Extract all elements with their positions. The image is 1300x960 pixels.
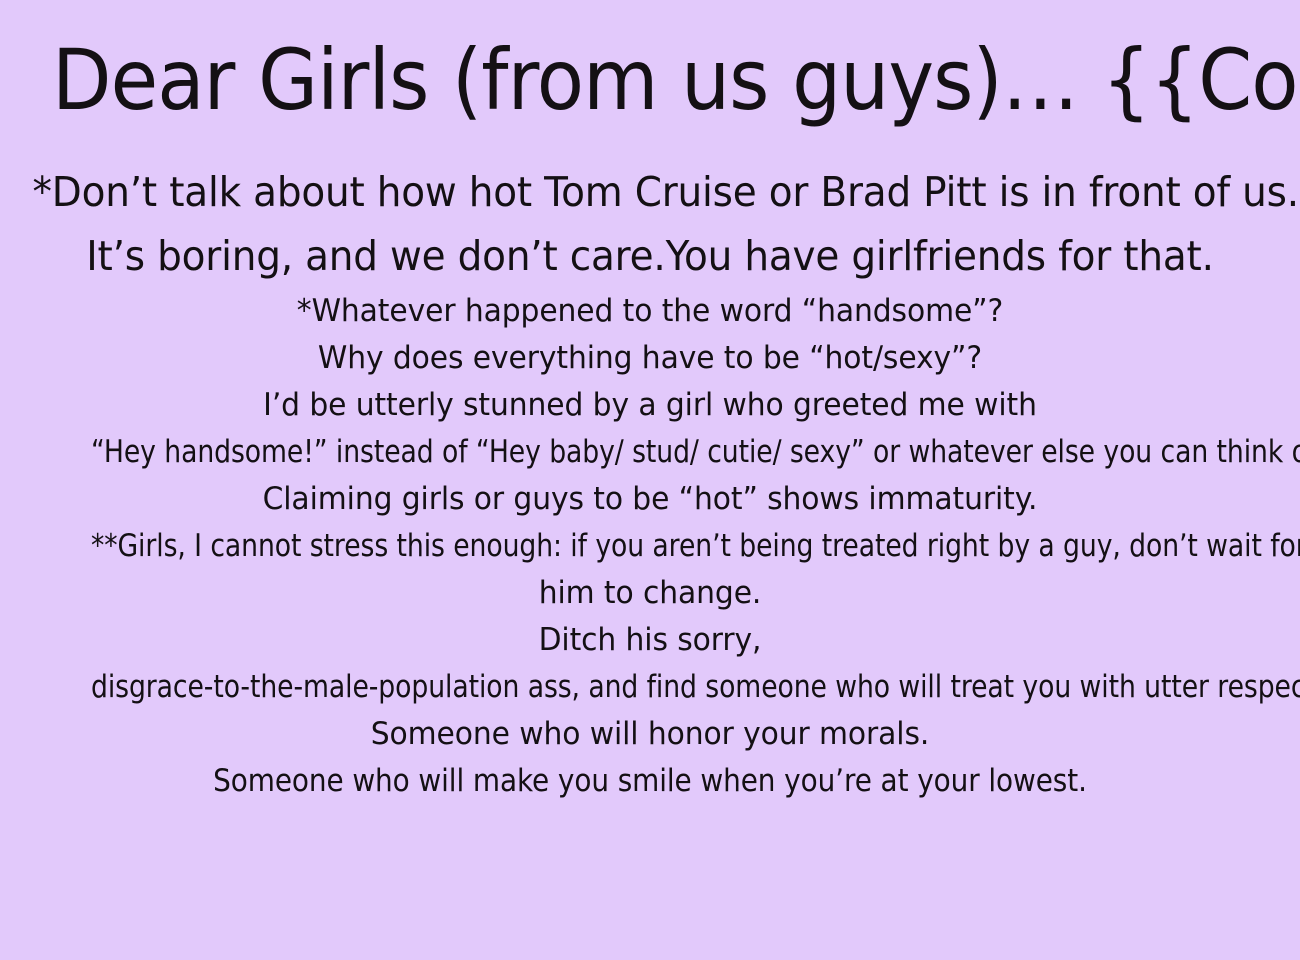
poster-canvas: Dear Girls (from us guys)… {{Cont.}} *Do… [0, 0, 1300, 960]
body-line: disgrace-to-the-male-population ass, and… [91, 664, 1209, 711]
body-line: “Hey handsome!” instead of “Hey baby/ st… [91, 429, 1209, 476]
body-line: Why does everything have to be “hot/sexy… [26, 335, 1274, 382]
body-line: him to change. [26, 570, 1274, 617]
body-line: It’s boring, and we don’t care.You have … [33, 224, 1268, 288]
body-line: Ditch his sorry, [26, 617, 1274, 664]
body-line: *Don’t talk about how hot Tom Cruise or … [33, 160, 1268, 224]
body-text-block: *Don’t talk about how hot Tom Cruise or … [0, 160, 1300, 805]
body-line: I’d be utterly stunned by a girl who gre… [26, 382, 1274, 429]
body-line: Someone who will make you smile when you… [65, 758, 1235, 805]
body-line: Claiming girls or guys to be “hot” shows… [26, 476, 1274, 523]
body-line: **Girls, I cannot stress this enough: if… [91, 523, 1209, 570]
page-title: Dear Girls (from us guys)… {{Cont.}} [52, 38, 1248, 122]
body-line: *Whatever happened to the word “handsome… [26, 288, 1274, 335]
body-line: Someone who will honor your morals. [26, 711, 1274, 758]
